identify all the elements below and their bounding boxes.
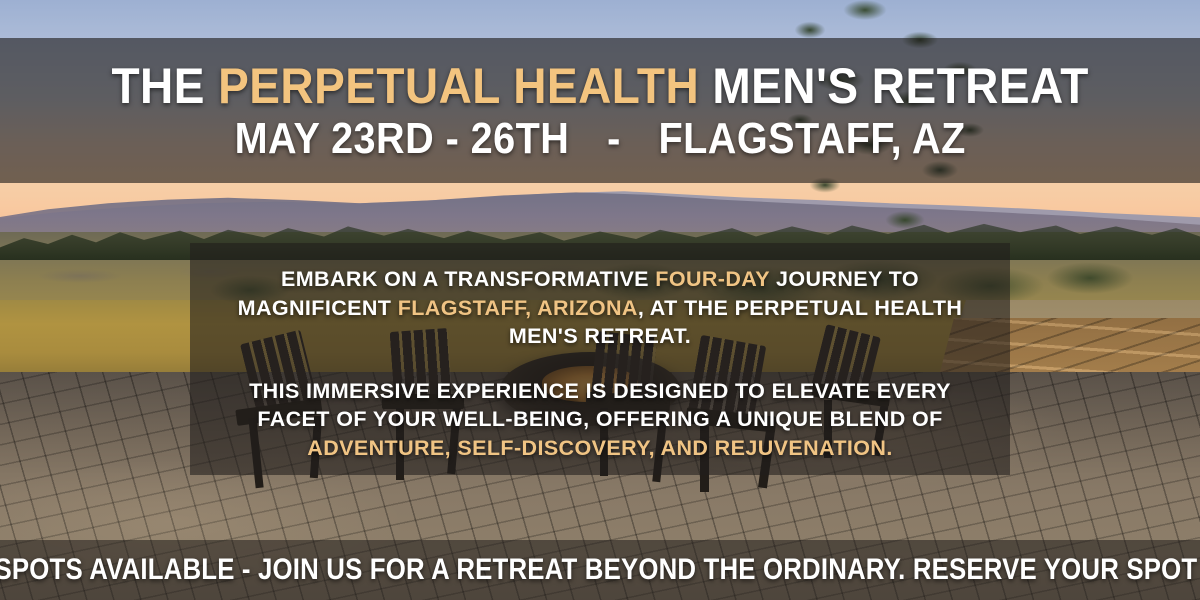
event-location: FLAGSTAFF, AZ: [658, 117, 965, 161]
para1-gold-duration: FOUR-DAY: [655, 267, 769, 291]
date-location-line: MAY 23RD - 26TH-FLAGSTAFF, AZ: [234, 117, 965, 161]
headline-part2: MEN'S RETREAT: [699, 58, 1089, 114]
footer-band: LIMITS SPOTS AVAILABLE - JOIN US FOR A R…: [0, 540, 1200, 600]
para1-seg1: EMBARK ON A TRANSFORMATIVE: [281, 267, 655, 291]
retreat-promo-banner: THE PERPETUAL HEALTH MEN'S RETREAT MAY 2…: [0, 0, 1200, 600]
para2-seg1: THIS IMMERSIVE EXPERIENCE IS DESIGNED TO…: [249, 379, 951, 432]
dateline-separator: -: [607, 117, 621, 161]
event-dates: MAY 23RD - 26TH: [234, 117, 569, 161]
description-panel: EMBARK ON A TRANSFORMATIVE FOUR-DAY JOUR…: [190, 243, 1010, 475]
call-to-action-text: LIMITS SPOTS AVAILABLE - JOIN US FOR A R…: [0, 555, 1200, 585]
headline-highlight: PERPETUAL HEALTH: [218, 58, 699, 114]
description-paragraph-2: THIS IMMERSIVE EXPERIENCE IS DESIGNED TO…: [216, 377, 984, 463]
description-paragraph-1: EMBARK ON A TRANSFORMATIVE FOUR-DAY JOUR…: [216, 265, 984, 351]
para2-gold-themes: ADVENTURE, SELF-DISCOVERY, AND REJUVENAT…: [307, 436, 892, 460]
headline-part1: THE: [111, 58, 218, 114]
header-band: THE PERPETUAL HEALTH MEN'S RETREAT MAY 2…: [0, 38, 1200, 183]
para1-gold-location: FLAGSTAFF, ARIZONA: [398, 296, 638, 320]
page-title: THE PERPETUAL HEALTH MEN'S RETREAT: [111, 61, 1088, 111]
